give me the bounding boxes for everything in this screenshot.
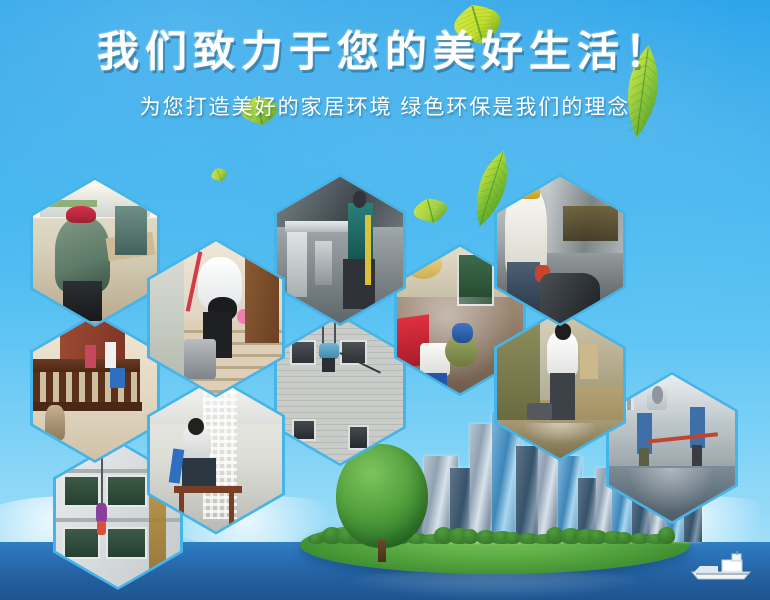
boat — [688, 551, 756, 586]
hex-tile-wall-plastering[interactable] — [30, 177, 160, 327]
hex-tile-duct-cleaning[interactable] — [274, 174, 406, 326]
hex-photo — [33, 180, 157, 324]
hex-photo — [150, 241, 282, 394]
hex-tile-tile-facade[interactable] — [274, 314, 406, 466]
hex-photo — [33, 316, 157, 460]
headline-block: 我们致力于您的美好生活！ 为您打造美好的家居环境 绿色环保是我们的理念 — [0, 30, 770, 121]
promo-banner: 我们致力于您的美好生活！ 为您打造美好的家居环境 绿色环保是我们的理念 — [0, 0, 770, 600]
hex-tile-railing-painting[interactable] — [30, 313, 160, 463]
page-subtitle: 为您打造美好的家居环境 绿色环保是我们的理念 — [0, 91, 770, 121]
hex-photo — [277, 317, 403, 463]
hex-tile-stair-mopping[interactable] — [147, 238, 285, 397]
hex-photo — [277, 177, 403, 323]
hex-photo — [609, 375, 735, 521]
page-title: 我们致力于您的美好生活！ — [0, 30, 770, 74]
